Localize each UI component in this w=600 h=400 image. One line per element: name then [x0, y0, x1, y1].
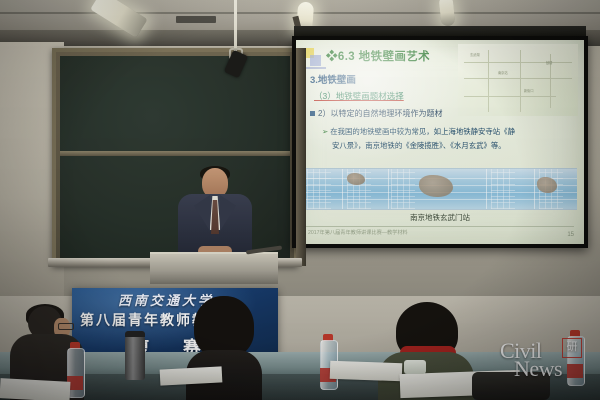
map-label: 新街口 — [524, 88, 534, 93]
slide-mural-photo — [303, 168, 577, 210]
paper-cup — [404, 360, 426, 374]
slide-footer: 2017年第八届青年教师讲课比赛—教学材料 — [308, 229, 408, 236]
chalkboard-divider — [60, 151, 290, 156]
map-label: 南京站 — [498, 70, 508, 75]
slide-image-caption: 南京地铁玄武门站 — [296, 212, 584, 223]
square-bullet-icon — [310, 111, 315, 116]
bottle-body — [567, 336, 585, 386]
ceiling-vent — [176, 16, 216, 23]
slide-bullet-1-text: 2）以特定的自然地理环境作为题材 — [318, 109, 442, 118]
lecture-hall-photo: 玄武湖 南京站 新街口 鼓楼 ❖6.3 地铁壁画艺术 3.地铁壁画 （3）地铁壁… — [0, 0, 600, 400]
ceiling-lamp — [438, 0, 455, 27]
slide-heading: 3.地铁壁画 — [310, 72, 356, 86]
glasses-icon — [58, 323, 74, 330]
projection-screen: 玄武湖 南京站 新街口 鼓楼 ❖6.3 地铁壁画艺术 3.地铁壁画 （3）地铁壁… — [296, 40, 584, 244]
slide-bullet-1: 2）以特定的自然地理环境作为题材 — [310, 108, 442, 119]
chalkboard-right-edge — [296, 48, 306, 266]
slide-bullet-2-line2: 安八景》，南京地铁的《金陵揽胜》、《水月玄武》等。 — [332, 140, 506, 151]
papers — [0, 378, 70, 400]
slide-footer-rule — [306, 226, 574, 227]
chalkboard-surface — [60, 56, 290, 258]
map-label: 鼓楼 — [546, 60, 552, 65]
projection-screen-frame: 玄武湖 南京站 新街口 鼓楼 ❖6.3 地铁壁画艺术 3.地铁壁画 （3）地铁壁… — [292, 36, 588, 248]
presenter — [176, 168, 254, 260]
slide-title: ❖6.3 地铁壁画艺术 — [326, 48, 430, 64]
papers — [160, 366, 223, 385]
slide-page-number: 15 — [567, 232, 574, 238]
bag — [472, 372, 550, 400]
slide-bullet-2-line1-text: 在我国的地铁壁画中较为常见，如上海地铁静安寺站《静 — [330, 127, 515, 136]
papers — [330, 361, 403, 382]
green-chalkboard — [52, 48, 298, 266]
vacuum-flask — [125, 336, 145, 380]
slide-map-image: 玄武湖 南京站 新街口 鼓楼 — [458, 44, 578, 116]
slide-subheading: （3）地铁壁画题材选择 — [314, 90, 404, 102]
slide-bullet-2-line1: ➢在我国的地铁壁画中较为常见，如上海地铁静安寺站《静 — [322, 126, 515, 137]
lecture-podium — [150, 252, 278, 284]
arrow-bullet-icon: ➢ — [322, 127, 328, 136]
map-label: 玄武湖 — [470, 52, 480, 57]
judge-center — [186, 296, 262, 400]
bottle-label — [567, 364, 583, 378]
water-bottle — [566, 330, 584, 386]
flask-lid — [125, 331, 145, 337]
judge-center-hair — [194, 296, 254, 358]
